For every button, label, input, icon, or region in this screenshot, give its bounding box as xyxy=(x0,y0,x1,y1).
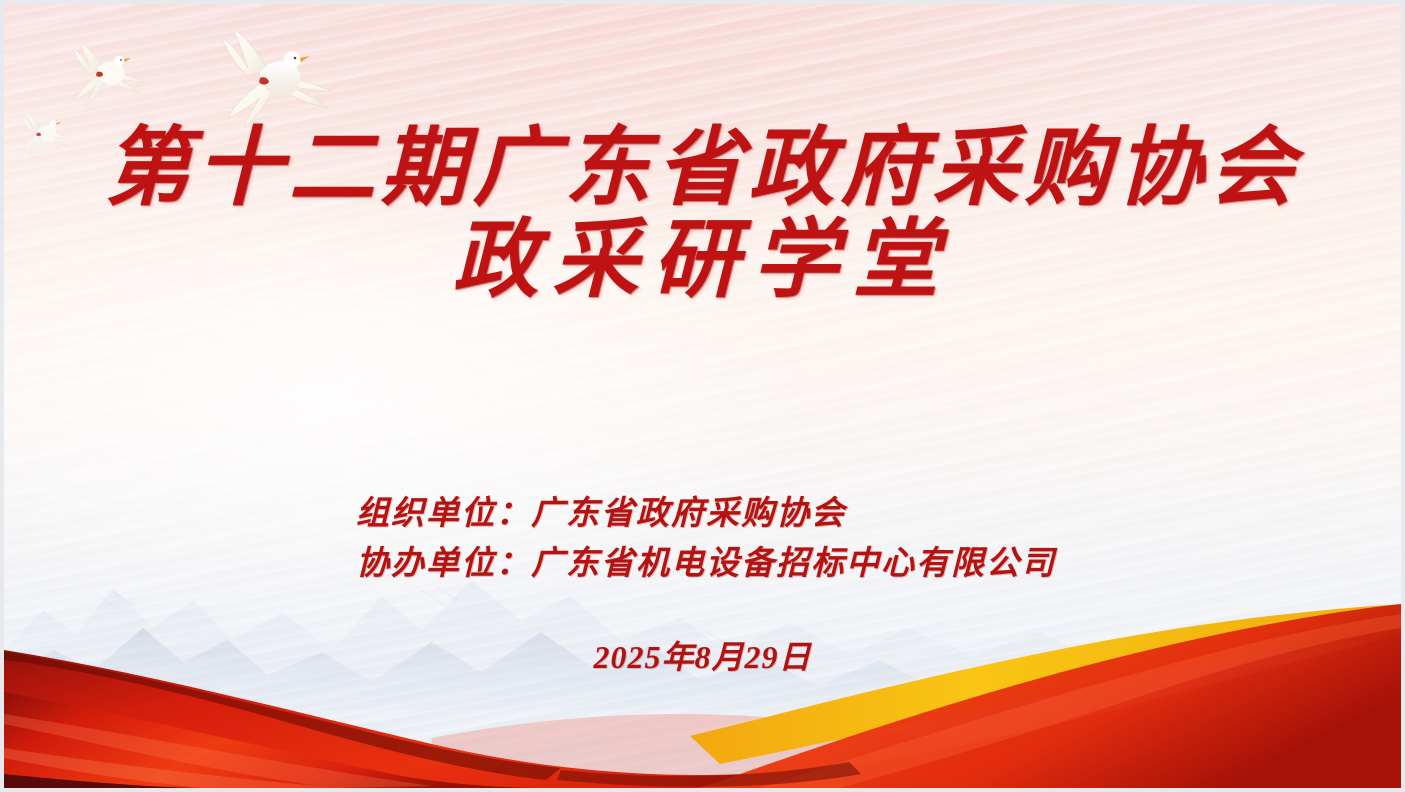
background-gradient xyxy=(4,4,1401,788)
title-slide: 第十二期广东省政府采购协会 政采研学堂 组织单位：广东省政府采购协会 协办单位：… xyxy=(0,0,1405,792)
